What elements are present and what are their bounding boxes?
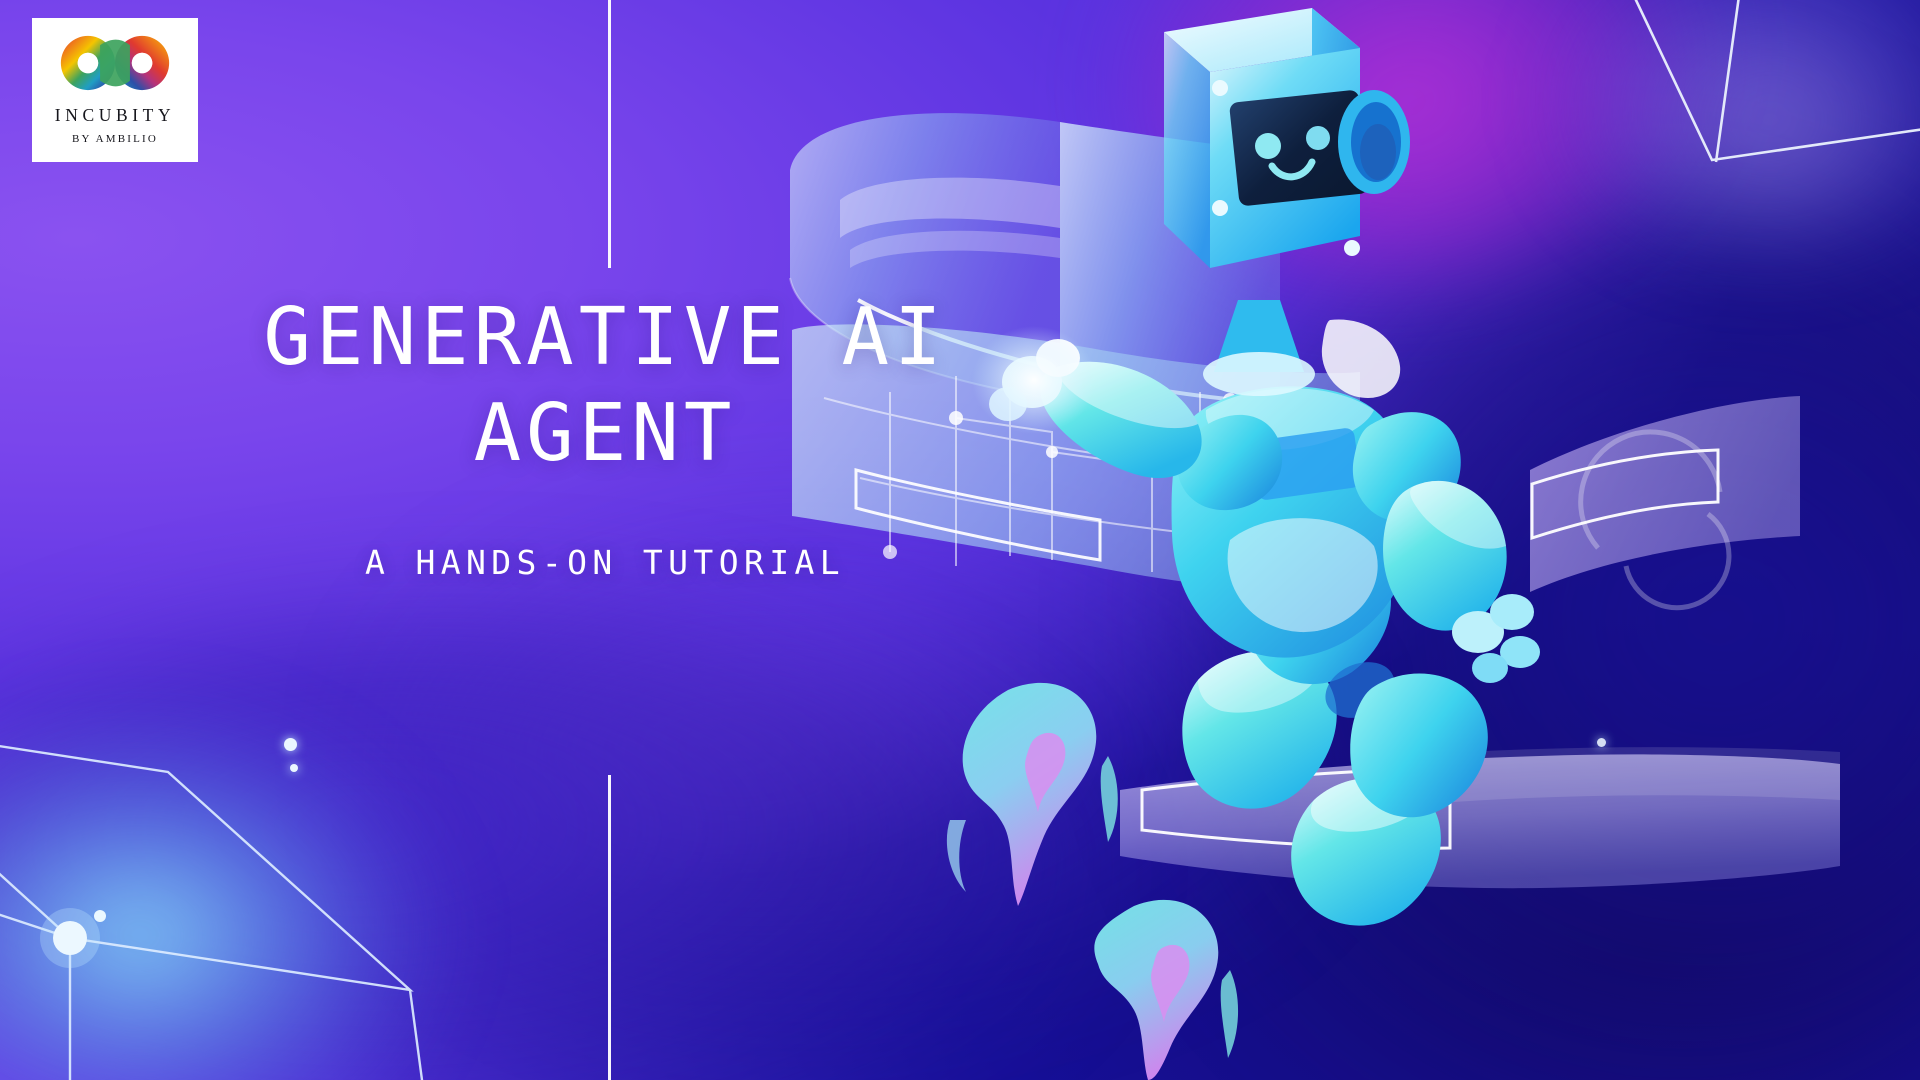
poster-canvas: INCUBITY BY AMBILIO GENERATIVE AI AGENT …	[0, 0, 1920, 1080]
floating-dot-1	[284, 738, 297, 751]
floating-dot-2	[290, 764, 298, 772]
page-title-line-2: AGENT	[60, 386, 1150, 482]
head-speaker-ring	[1338, 90, 1410, 194]
page-title-line-1: GENERATIVE AI	[263, 291, 946, 383]
background-glow-cyan	[0, 700, 450, 1080]
lavender-hologram-panel-right	[1530, 396, 1800, 608]
vertical-divider-top	[608, 0, 611, 268]
cube-robot-head	[1164, 8, 1410, 268]
brand-name: INCUBITY	[55, 105, 175, 126]
brand-logo-card[interactable]: INCUBITY BY AMBILIO	[32, 18, 198, 162]
left-thruster-flame	[947, 683, 1118, 906]
page-title: GENERATIVE AI AGENT	[60, 290, 1150, 481]
infinity-rings-icon	[59, 34, 171, 92]
right-thruster-flame	[1094, 900, 1238, 1080]
page-subtitle: A HANDS-ON TUTORIAL	[60, 543, 1150, 582]
wireframe-cube-icon	[0, 620, 470, 1080]
brand-tagline: BY AMBILIO	[72, 133, 158, 145]
vertical-divider-bottom	[608, 775, 611, 1080]
hero-text-block: GENERATIVE AI AGENT A HANDS-ON TUTORIAL	[60, 290, 1150, 582]
